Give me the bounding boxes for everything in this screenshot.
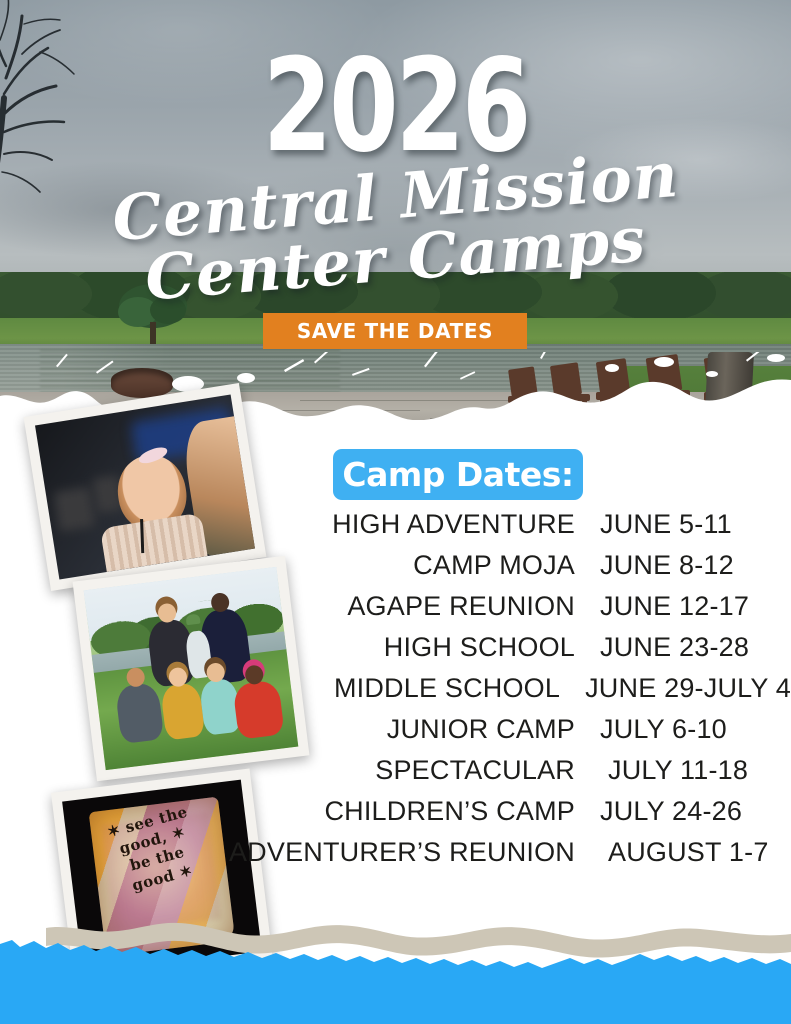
table-row: JUNIOR CAMP JULY 6-10 (180, 714, 791, 755)
camp-name: CAMP MOJA (180, 550, 575, 581)
camp-name: SPECTACULAR (180, 755, 575, 786)
save-the-dates-badge: SAVE THE DATES (263, 313, 527, 349)
save-the-dates-label: SAVE THE DATES (297, 319, 493, 343)
camp-schedule-list: HIGH ADVENTURE JUNE 5-11 CAMP MOJA JUNE … (180, 509, 791, 878)
table-row: CHILDREN’S CAMP JULY 24-26 (180, 796, 791, 837)
camp-name: AGAPE REUNION (180, 591, 575, 622)
tree-trunk (704, 352, 754, 420)
camp-name: CHILDREN’S CAMP (180, 796, 575, 827)
camp-dates: JUNE 29-JULY 4 (560, 673, 791, 704)
lake-reflection (40, 348, 340, 394)
fire-pit (111, 368, 173, 398)
table-row: SPECTACULAR JULY 11-18 (180, 755, 791, 796)
camp-dates: JULY 11-18 (575, 755, 748, 786)
camp-name: HIGH ADVENTURE (180, 509, 575, 540)
camp-dates: AUGUST 1-7 (575, 837, 769, 868)
table-row: MIDDLE SCHOOL JUNE 29-JULY 4 (180, 673, 791, 714)
camp-name: JUNIOR CAMP (180, 714, 575, 745)
table-row: HIGH ADVENTURE JUNE 5-11 (180, 509, 791, 550)
camp-name: MIDDLE SCHOOL (180, 673, 560, 704)
hero-photo-lake-camp: 2026 Central Mission Center Camps SAVE T… (0, 0, 791, 420)
camp-dates: JULY 24-26 (575, 796, 742, 827)
camp-dates-heading-badge: Camp Dates: (333, 449, 583, 500)
camp-dates: JUNE 12-17 (575, 591, 749, 622)
bottom-blue-band (0, 904, 791, 1024)
camp-name: ADVENTURER’S REUNION (180, 837, 575, 868)
table-row: ADVENTURER’S REUNION AUGUST 1-7 (180, 837, 791, 878)
camp-name: HIGH SCHOOL (180, 632, 575, 663)
camp-dates: JUNE 5-11 (575, 509, 732, 540)
background-blur (54, 486, 96, 532)
camp-poster: 2026 Central Mission Center Camps SAVE T… (0, 0, 791, 1024)
table-row: HIGH SCHOOL JUNE 23-28 (180, 632, 791, 673)
camp-dates-heading-label: Camp Dates: (342, 455, 573, 494)
table-row: AGAPE REUNION JUNE 12-17 (180, 591, 791, 632)
torn-paper-edge (0, 904, 791, 1024)
camp-dates: JULY 6-10 (575, 714, 727, 745)
camp-dates: JUNE 23-28 (575, 632, 749, 663)
table-row: CAMP MOJA JUNE 8-12 (180, 550, 791, 591)
camp-dates: JUNE 8-12 (575, 550, 734, 581)
